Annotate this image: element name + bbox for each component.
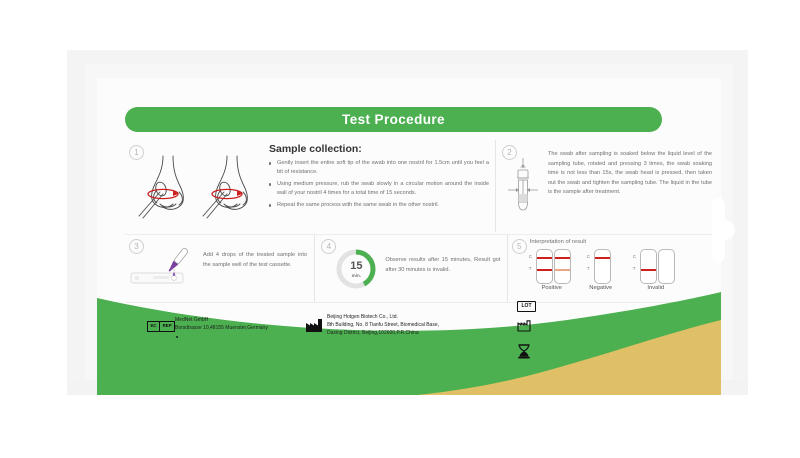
ec-rep-symbol: EC REP — [147, 321, 175, 332]
timer-unit: min. — [352, 273, 361, 278]
test-band — [641, 269, 656, 271]
band-label-t: T — [587, 266, 590, 271]
cassette — [640, 249, 657, 284]
footer-content: EC REP MedNet GmbH Borsdtrasse 10,48155 … — [97, 284, 721, 395]
step-2-panel: 2 — [496, 140, 718, 232]
page-wrapper: Test Procedure 1 — [0, 0, 800, 458]
timer-value: 15 — [350, 261, 362, 272]
band-label-t: T — [529, 266, 532, 271]
step-1-panel: 1 — [125, 140, 496, 232]
sampling-tube-illustration — [506, 158, 540, 220]
manufacturer-address-line-1: 8th Building, No. 8 Tianfu Street, Biome… — [327, 321, 507, 329]
band-label-c: C — [529, 254, 532, 259]
manufacturer-factory-icon — [306, 319, 322, 332]
date-of-manufacture-symbol — [517, 320, 533, 332]
page-title: Test Procedure — [125, 107, 662, 132]
band-label-t: T — [633, 266, 636, 271]
manufacturer-address-line-2: Daxing District, Beijing,102600,P.R.Chin… — [327, 329, 507, 337]
manufacturer-address-block: Beijing Hotgen Biotech Co., Ltd. 8th Bui… — [327, 313, 507, 337]
steps-row-top: 1 — [125, 140, 718, 232]
control-band — [555, 257, 570, 259]
page-title-label: Test Procedure — [342, 112, 445, 127]
band-label-c: C — [633, 254, 636, 259]
control-band — [595, 257, 610, 259]
cassette — [594, 249, 611, 284]
step-4-text: Observe results after 15 minutes, Result… — [385, 255, 500, 275]
step-1-bullet-list: Gently insert the entire soft tip of the… — [269, 159, 489, 210]
step-1-body: Sample collection: Gently insert the ent… — [269, 143, 489, 213]
step-4-number: 4 — [321, 239, 336, 254]
manufacturer-name: Beijing Hotgen Biotech Co., Ltd. — [327, 313, 507, 321]
band-label-c: C — [587, 254, 590, 259]
footer-bullet-mark — [176, 336, 178, 338]
lot-number-symbol: LOT — [517, 301, 536, 312]
test-band — [555, 269, 570, 271]
step-5-heading: Interpretation of result — [530, 239, 586, 245]
ec-rep-badge-right: REP — [160, 322, 174, 331]
test-band — [537, 269, 552, 271]
page-bookmark-tab[interactable] — [712, 198, 725, 262]
ec-rep-badge-left: EC — [148, 322, 160, 331]
step-1-heading: Sample collection: — [269, 143, 489, 155]
cassette — [554, 249, 571, 284]
step-5-number: 5 — [512, 239, 527, 254]
control-band — [537, 257, 552, 259]
step-1-bullet: Gently insert the entire soft tip of the… — [269, 159, 489, 177]
ec-rep-name: MedNet GmbH — [175, 317, 305, 325]
nose-swab-illustration — [133, 150, 261, 226]
instruction-sheet: Test Procedure 1 — [97, 78, 721, 395]
ec-rep-address-block: MedNet GmbH Borsdtrasse 10,48155 Muenste… — [175, 317, 305, 333]
step-2-text: The swab after sampling is soaked below … — [548, 150, 712, 198]
footer-symbol-column: LOT — [517, 301, 539, 364]
ec-rep-address: Borsdtrasse 10,48155 Muenster,Germany — [175, 325, 305, 333]
cassette — [536, 249, 553, 284]
use-by-date-symbol — [517, 344, 531, 359]
step-3-text: Add 4 drops of the treated sample into t… — [203, 251, 307, 271]
step-1-bullet: Repeat the same process with the same sw… — [269, 201, 489, 210]
step-1-bullet: Using medium pressure, rub the swab slow… — [269, 180, 489, 198]
cassette — [658, 249, 675, 284]
